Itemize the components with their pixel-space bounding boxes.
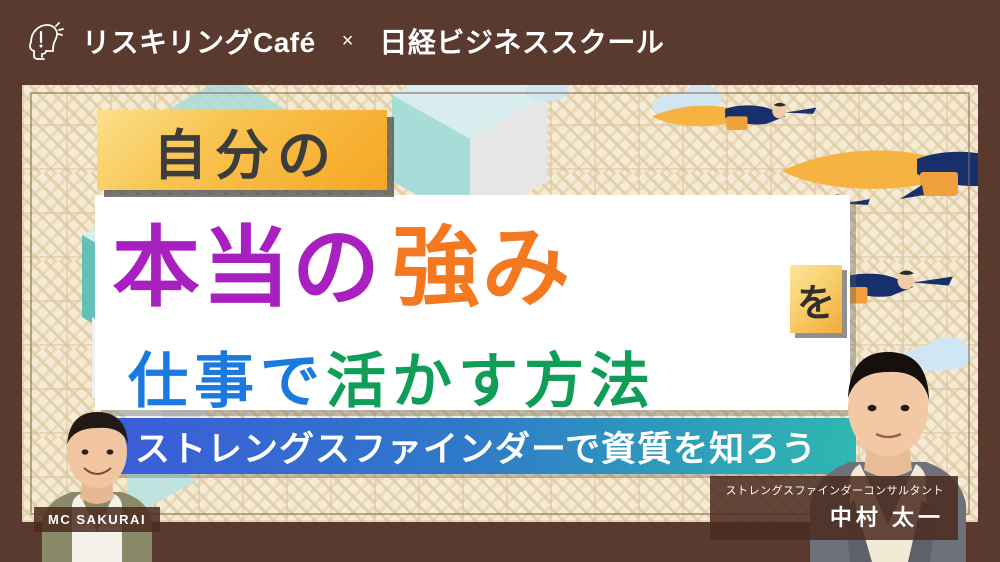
webinar-banner: リスキリングCafé × 日経ビジネススクール 11.14 [金] 無料LIVE… [0, 0, 1000, 562]
speaker-name: 中村 太一 [830, 500, 944, 532]
mc-photo [22, 382, 172, 562]
title-line-1: 自分の [145, 111, 339, 190]
title-line-3: 仕事で 活かす方法 [128, 333, 656, 420]
speaker-role: ストレングスファインダーコンサルタント [726, 482, 945, 498]
time-range: 12:05−12:55 [860, 28, 974, 52]
subtitle-text: ストレングスファインダーで資質を知ろう [135, 421, 817, 472]
subtitle-bar: ストレングスファインダーで資質を知ろう [96, 418, 856, 474]
mc-name-tag: MC SAKURAI [34, 507, 160, 532]
live-label: 無料LIVE配信 [860, 7, 974, 28]
mc-name: MC SAKURAI [48, 512, 146, 527]
event-date: 11.14 [680, 6, 792, 56]
title-line-3-green: 活かす方法 [326, 333, 656, 420]
event-dayofweek: [金] [796, 14, 833, 56]
header-side-rule [983, 60, 986, 155]
event-datetime: 11.14 [金] 無料LIVE配信 12:05−12:55 [680, 6, 974, 56]
divider [845, 7, 848, 53]
title-line-2-orange: 強み [392, 197, 572, 324]
title-line-2-purple: 本当の [112, 197, 382, 324]
speaker-name-tag: ストレングスファインダーコンサルタント 中村 太一 [710, 476, 959, 540]
title-line-2: 本当の 強み [112, 208, 872, 313]
title-line-1-box: 自分の [97, 110, 387, 190]
